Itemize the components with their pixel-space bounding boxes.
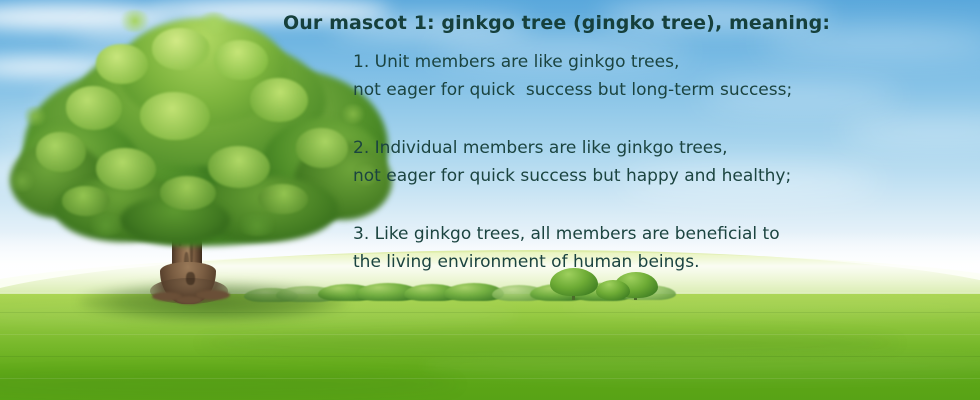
banner-paragraph-2: 2. Individual members are like ginkgo tr…: [353, 134, 791, 190]
banner-title: Our mascot 1: ginkgo tree (gingko tree),…: [283, 12, 830, 34]
banner-paragraph-1: 1. Unit members are like ginkgo trees, n…: [353, 48, 792, 104]
mascot-banner: Our mascot 1: ginkgo tree (gingko tree),…: [0, 0, 980, 400]
banner-paragraph-3: 3. Like ginkgo trees, all members are be…: [353, 220, 780, 276]
banner-text: Our mascot 1: ginkgo tree (gingko tree),…: [0, 0, 980, 400]
